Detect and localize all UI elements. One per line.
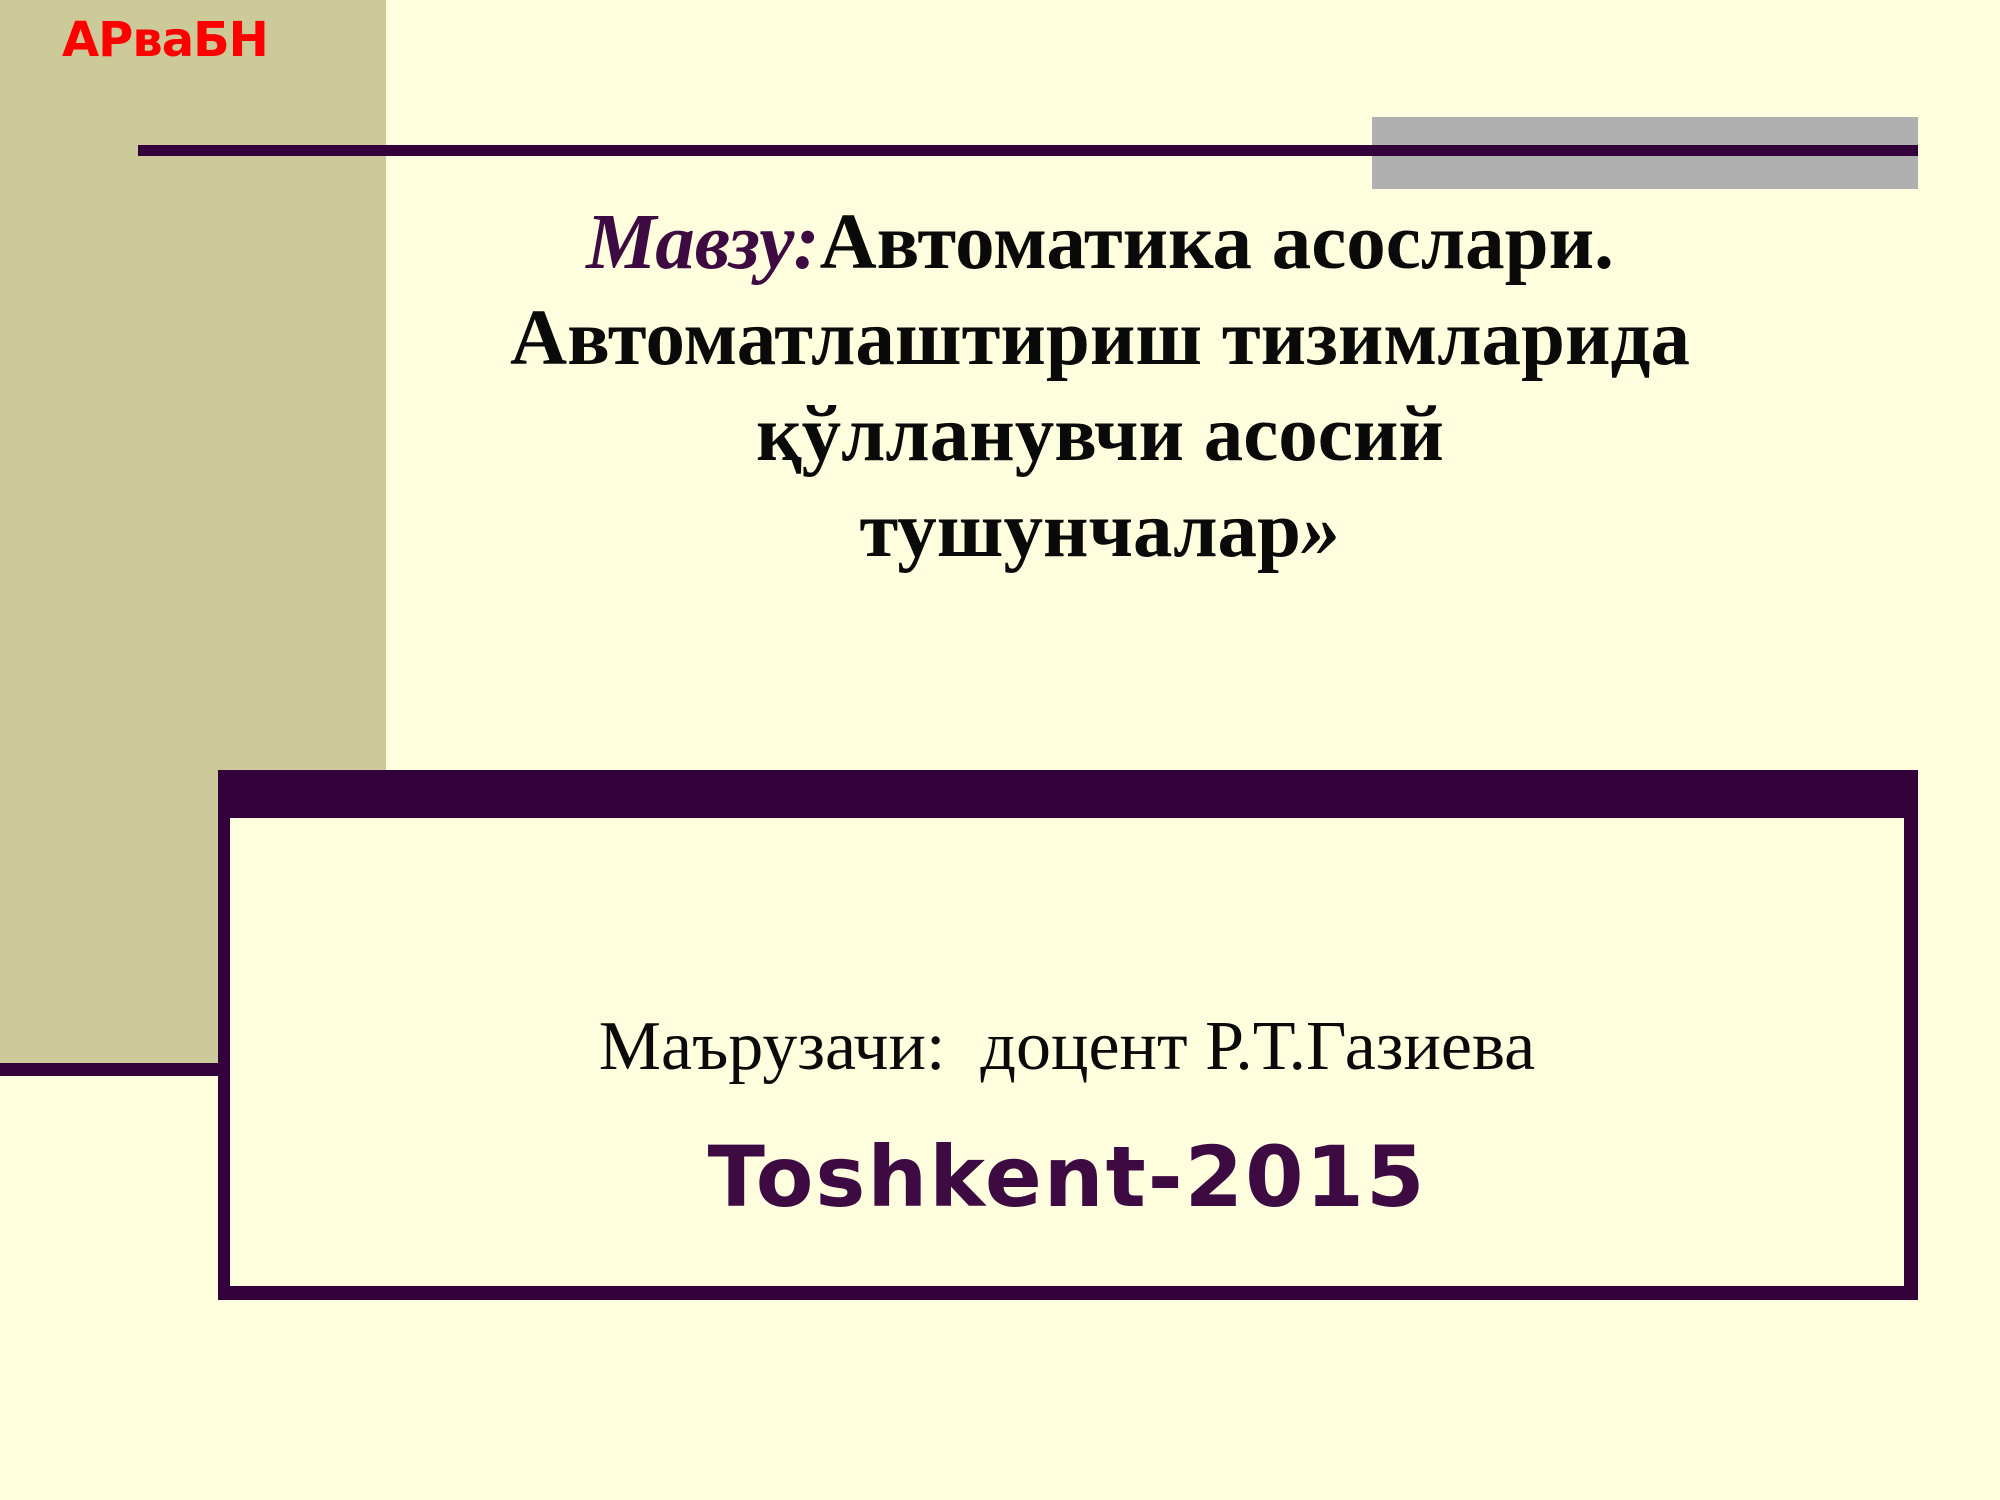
title-line-4: тушунчалар» <box>250 483 1950 579</box>
presentation-slide: АРваБН Мавзу:Автоматика асослари. Автома… <box>0 0 2000 1500</box>
organization-logo: АРваБН <box>62 12 268 68</box>
title-line-1: Мавзу:Автоматика асослари. <box>250 195 1950 291</box>
presenter-name: Маърузачи: доцент Р.Т.Газиева <box>230 1008 1904 1086</box>
slide-title: Мавзу:Автоматика асослари. Автоматлаштир… <box>250 195 1950 579</box>
presenter-info-box-inner: Маърузачи: доцент Р.Т.Газиева Toshkent-2… <box>230 818 1904 1286</box>
title-topic-label: Мавзу: <box>586 199 820 286</box>
title-closing-quote: » <box>1301 487 1341 574</box>
presenter-info-box: Маърузачи: доцент Р.Т.Газиева Toshkent-2… <box>218 770 1918 1300</box>
place-and-year: Toshkent-2015 <box>230 1128 1904 1226</box>
title-line-4-text: тушунчалар <box>860 487 1301 574</box>
title-line-2: Автоматлаштириш тизимларида <box>250 291 1950 387</box>
top-horizontal-rule <box>138 145 1918 156</box>
title-line-1-text: Автоматика асослари. <box>820 199 1614 286</box>
title-line-3: қўлланувчи асосий <box>250 387 1950 483</box>
